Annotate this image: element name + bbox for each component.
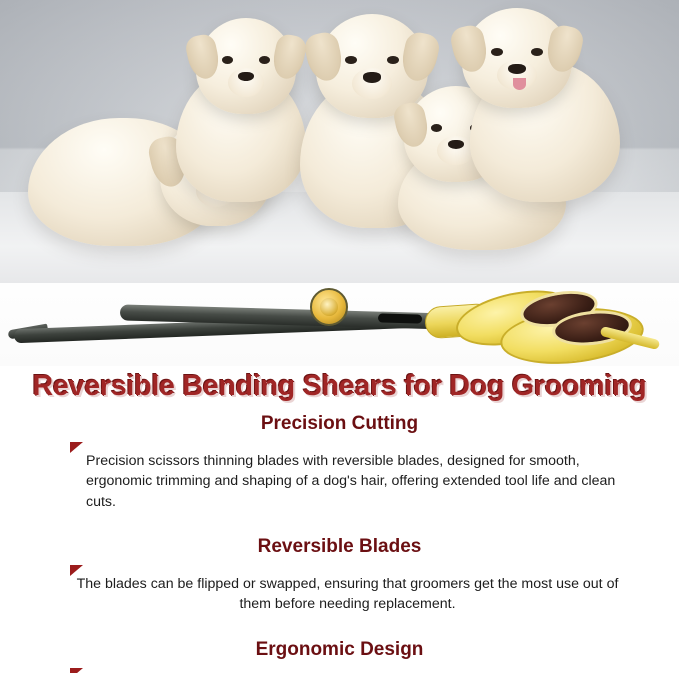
bullet-text-reversible-blades: The blades can be flipped or swapped, en…	[62, 574, 633, 614]
section-title-precision-cutting: Precision Cutting	[18, 413, 661, 435]
puppy-eye-icon	[387, 56, 399, 64]
bullet-text-precision-cutting: Precision scissors thinning blades with …	[62, 451, 633, 511]
puppy-eye-icon	[531, 48, 543, 56]
shear-thumb-slot	[378, 313, 422, 323]
bullet-ergonomic-design: These shears typically feature comfortab…	[18, 663, 661, 673]
shear-tension-screw-icon	[310, 288, 348, 326]
bullet-precision-cutting: Precision scissors thinning blades with …	[18, 437, 661, 526]
shears-product-image	[0, 283, 679, 366]
puppy-eye-icon	[259, 56, 270, 64]
puppy-head-5	[462, 8, 572, 108]
puppy-nose-icon	[363, 72, 381, 82]
product-infographic: Reversible Bending Shears for Dog Groomi…	[0, 0, 679, 673]
puppies-photo	[0, 0, 679, 283]
puppy-nose-icon	[508, 64, 526, 74]
puppy-eye-icon	[345, 56, 357, 64]
feature-panel: Reversible Bending Shears for Dog Groomi…	[0, 366, 679, 673]
puppy-head-2	[196, 18, 296, 114]
puppy-eye-icon	[431, 124, 442, 132]
section-title-ergonomic-design: Ergonomic Design	[18, 639, 661, 661]
shear-tension-screw-inner	[320, 298, 338, 316]
flag-bullet-icon	[70, 668, 83, 673]
bullet-reversible-blades: The blades can be flipped or swapped, en…	[18, 560, 661, 629]
puppy-tongue-icon	[513, 78, 526, 90]
puppy-eye-icon	[491, 48, 503, 56]
flag-bullet-icon	[70, 565, 83, 576]
puppy-eye-icon	[222, 56, 233, 64]
flag-bullet-icon	[70, 442, 83, 453]
page-title: Reversible Bending Shears for Dog Groomi…	[18, 366, 661, 403]
section-title-reversible-blades: Reversible Blades	[18, 536, 661, 558]
